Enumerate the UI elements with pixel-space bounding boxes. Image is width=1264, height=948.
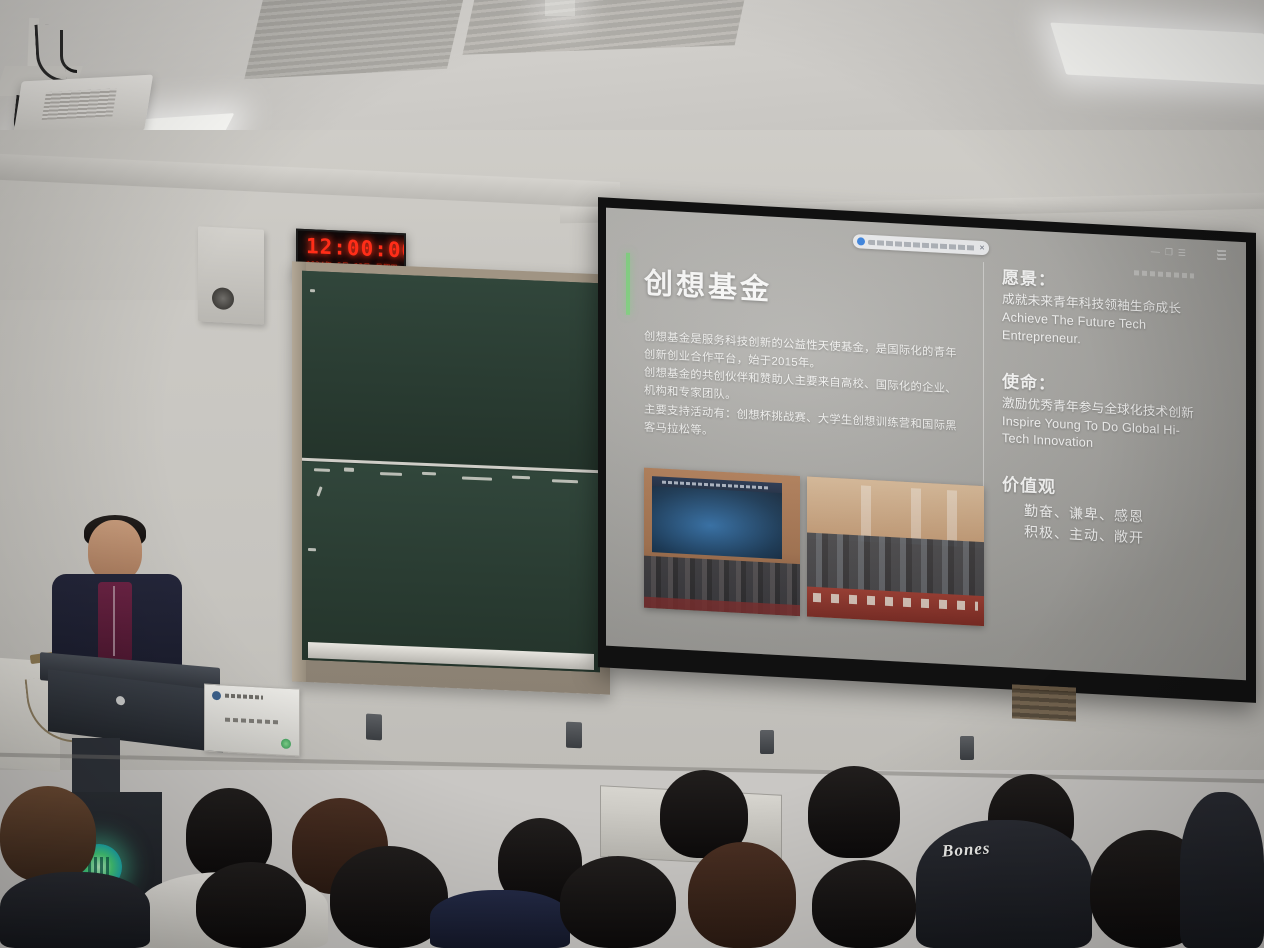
stage-screen — [652, 486, 782, 559]
podium-column — [72, 738, 120, 798]
slide-accent-bar — [626, 253, 630, 315]
power-indicator-icon — [281, 739, 291, 750]
lecture-hall-photo: 12:00:00 2024年 5月 23日 星期四 12:00 — [0, 0, 1264, 948]
wall-fitting — [366, 714, 382, 741]
slide-title: 创想基金 — [644, 260, 772, 309]
wall-speaker — [198, 226, 264, 324]
ceiling-projector — [13, 75, 153, 138]
notification-toast[interactable]: 若无正确显示人员，请及时关闭窗口并重新进入… ✕ — [853, 234, 989, 255]
minimize-icon[interactable]: — — [1151, 247, 1160, 256]
audience-shoulders — [1180, 792, 1264, 948]
audience-head — [560, 856, 676, 948]
restore-icon[interactable]: ❐ — [1165, 248, 1173, 257]
audience-head — [0, 786, 96, 882]
audience-shoulders — [430, 890, 570, 948]
brand-logo-icon — [212, 691, 221, 700]
audience-jacket — [916, 820, 1092, 948]
maximize-icon[interactable]: ☰ — [1178, 249, 1186, 258]
close-icon[interactable]: ✕ — [979, 244, 985, 251]
slide-content: 创想基金 创想基金是服务科技创新的公益性天使基金，是国际化的青年创新创业合作平台… — [606, 208, 1246, 681]
hall-pillar — [911, 488, 921, 545]
presenter-head — [88, 520, 142, 582]
audience-head — [812, 860, 916, 948]
control-box-label — [225, 718, 279, 725]
wall-fitting — [760, 730, 774, 754]
control-box-label — [225, 694, 263, 700]
projection-screen: 创想基金 创想基金是服务科技创新的公益性天使基金，是国际化的青年创新创业合作平台… — [598, 197, 1256, 703]
wall-fitting — [960, 736, 974, 760]
hall-pillar — [947, 490, 957, 547]
slide-photos — [644, 468, 984, 626]
wall-control-box[interactable] — [204, 683, 300, 756]
slide-body-text: 创想基金是服务科技创新的公益性天使基金，是国际化的青年创新创业合作平台，始于20… — [644, 328, 962, 454]
menu-icon[interactable] — [1217, 250, 1226, 261]
wall-vent-icon — [1012, 684, 1076, 721]
ceiling-vent-icon — [244, 0, 465, 79]
judges-panel-photo — [807, 477, 984, 627]
blackboard-panel-upper — [302, 271, 600, 473]
ceiling-vent-icon — [462, 0, 747, 55]
projector-vent-icon — [42, 88, 117, 120]
projected-slide: 创想基金 创想基金是服务科技创新的公益性天使基金，是国际化的青年创新创业合作平台… — [606, 208, 1246, 681]
ceiling-light — [545, 0, 575, 16]
slide-right-column: 愿景： 成就未来青年科技领袖生命成长 Achieve The Future Te… — [1002, 263, 1242, 554]
hall-pillar — [861, 485, 871, 542]
audience-shoulders — [0, 872, 150, 948]
blackboard-surface — [302, 271, 600, 672]
notification-text: 若无正确显示人员，请及时关闭窗口并重新进入… — [868, 239, 976, 250]
jacket-text: Bones — [941, 838, 991, 861]
audience-head — [196, 862, 306, 948]
award-ceremony-group-photo — [644, 468, 800, 616]
presenter-shirt — [98, 582, 132, 662]
wall-fitting — [566, 722, 582, 749]
blackboard-panel-lower — [302, 461, 600, 672]
audience-head — [808, 766, 900, 858]
audience-head — [688, 842, 796, 948]
green-blackboard — [292, 261, 610, 694]
clock-time: 12:00:00 — [306, 234, 406, 263]
window-controls[interactable]: — ❐ ☰ — [1151, 247, 1186, 258]
info-icon — [857, 237, 865, 245]
